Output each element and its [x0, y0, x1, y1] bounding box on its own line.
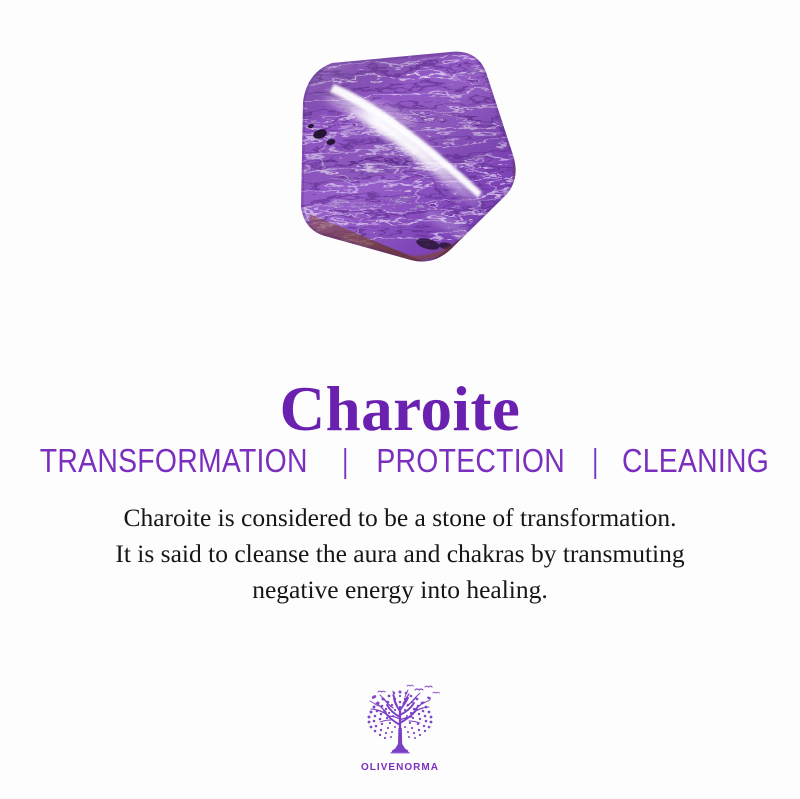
keyword-protection: PROTECTION: [376, 441, 565, 481]
description-text: Charoite is considered to be a stone of …: [0, 500, 800, 608]
keyword-cleaning: CLEANING: [622, 441, 769, 481]
charoite-cabochon-image: [270, 38, 526, 270]
description-line: negative energy into healing.: [0, 572, 800, 608]
description-line: It is said to cleanse the aura and chakr…: [0, 536, 800, 572]
description-line: Charoite is considered to be a stone of …: [0, 500, 800, 536]
keyword-transformation: TRANSFORMATION: [40, 441, 308, 481]
page-title: Charoite: [0, 375, 800, 443]
keyword-separator: |: [584, 441, 605, 481]
brand-logo: OLIVENORMA: [345, 684, 455, 773]
brand-wordmark: OLIVENORMA: [348, 761, 453, 773]
keyword-separator: |: [335, 441, 356, 481]
tree-of-life-icon: [345, 684, 455, 758]
charoite-info-card: Charoite TRANSFORMATION|PROTECTION|CLEAN…: [0, 0, 800, 799]
gemstone-image-area: [0, 0, 800, 300]
keyword-list: TRANSFORMATION|PROTECTION|CLEANING: [0, 441, 800, 481]
